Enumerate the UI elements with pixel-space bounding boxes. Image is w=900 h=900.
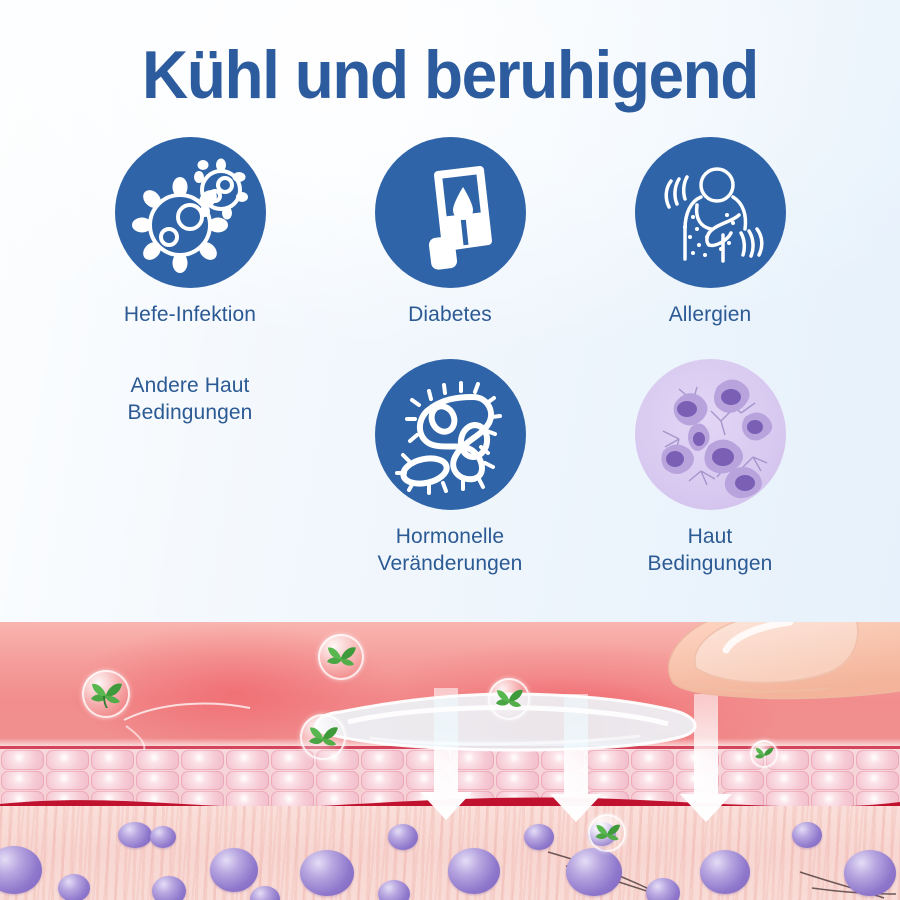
skin-cross-section: [0, 622, 900, 900]
condition-label: Hormonelle Veränderungen: [378, 523, 523, 578]
globule: [58, 874, 90, 900]
page-title: Kühl und beruhigend: [27, 36, 873, 114]
condition-item[interactable]: Allergien: [580, 137, 840, 329]
product-infographic: Kühl und beruhigend: [0, 0, 900, 900]
condition-label: Hefe-Infektion: [124, 301, 256, 329]
skin-cells-photo: [635, 359, 786, 510]
condition-item[interactable]: Hefe-Infektion: [60, 137, 320, 329]
globule: [378, 880, 410, 900]
mint-capsule: [750, 740, 778, 768]
mint-leaf-icon: [89, 679, 123, 709]
globule: [152, 876, 186, 900]
globule: [646, 878, 680, 900]
condition-label: Diabetes: [408, 301, 492, 329]
condition-label: Allergien: [669, 301, 752, 329]
conditions-grid: Hefe-Infektion: [60, 137, 840, 578]
globule: [448, 848, 500, 894]
condition-label: Andere Haut Bedingungen: [128, 372, 253, 427]
mint-capsule: [588, 814, 626, 852]
globule: [844, 850, 896, 896]
capsule-trail: [120, 692, 340, 752]
virus-icon: [115, 137, 266, 288]
globule: [150, 826, 176, 848]
mint-leaf-icon: [754, 745, 774, 763]
mint-capsule: [488, 678, 530, 720]
top-panel: Kühl und beruhigend: [0, 0, 900, 626]
condition-item[interactable]: Hormonelle Veränderungen: [320, 359, 580, 578]
itching-person-icon: [635, 137, 786, 288]
condition-item[interactable]: Haut Bedingungen: [580, 359, 840, 578]
mint-capsule: [318, 634, 364, 680]
condition-item[interactable]: Andere Haut Bedingungen: [60, 359, 320, 578]
condition-label: Haut Bedingungen: [648, 523, 773, 578]
bacteria-icon: [375, 359, 526, 510]
mint-leaf-icon: [325, 643, 357, 671]
globule: [300, 850, 354, 896]
mint-leaf-icon: [494, 686, 524, 712]
globule: [210, 848, 258, 892]
mint-leaf-icon: [594, 821, 621, 845]
condition-item[interactable]: Diabetes: [320, 137, 580, 329]
globule: [566, 848, 622, 896]
glucose-meter-icon: [375, 137, 526, 288]
globule: [700, 850, 750, 894]
fingertip-applying-gel: [630, 622, 900, 722]
